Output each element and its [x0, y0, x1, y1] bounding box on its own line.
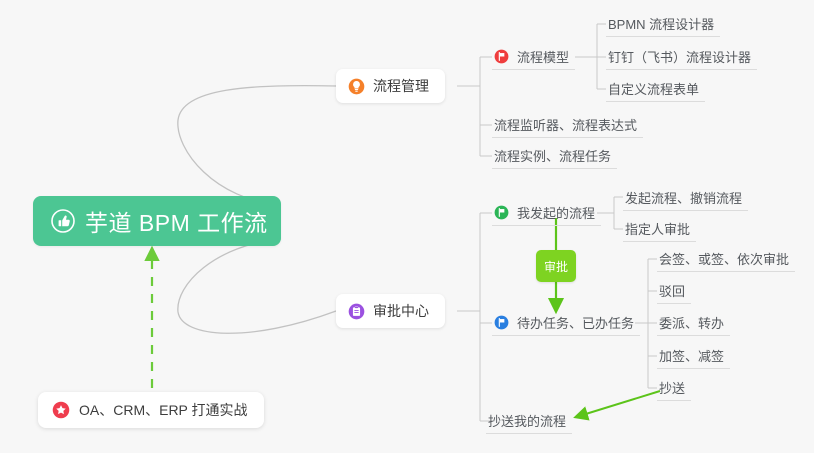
- flag-icon: [494, 315, 509, 330]
- connector-root-to-process-management: [178, 86, 336, 205]
- node-bpmn-designer[interactable]: BPMN 流程设计器: [606, 11, 720, 37]
- flag-icon: [494, 49, 509, 64]
- node-label: 流程模型: [517, 47, 569, 66]
- lightbulb-icon: [348, 78, 365, 95]
- flag-icon: [494, 205, 509, 220]
- node-label: 委派、转办: [659, 313, 724, 332]
- node-label: 发起流程、撤销流程: [625, 188, 742, 207]
- node-assignee-approval[interactable]: 指定人审批: [623, 216, 696, 242]
- node-label: 流程监听器、流程表达式: [494, 115, 637, 134]
- node-reject[interactable]: 驳回: [657, 278, 691, 304]
- topic-label: 审批中心: [373, 301, 429, 321]
- floating-card-integration[interactable]: OA、CRM、ERP 打通实战: [38, 392, 264, 428]
- star-icon: [52, 401, 70, 419]
- topic-card-approval-center[interactable]: 审批中心: [336, 294, 445, 328]
- root-label: 芋道 BPM 工作流: [85, 204, 268, 238]
- node-add-remove-sign[interactable]: 加签、减签: [657, 343, 730, 369]
- node-cc[interactable]: 抄送: [657, 375, 691, 401]
- arrow-cc-to-ccflow: [576, 391, 660, 417]
- node-dingtalk-feishu-designer[interactable]: 钉钉（飞书）流程设计器: [606, 44, 757, 70]
- connector-root-to-approval-center: [178, 239, 336, 333]
- root-node[interactable]: 芋道 BPM 工作流: [33, 196, 281, 246]
- node-label: 加签、减签: [659, 346, 724, 365]
- approval-badge-label: 审批: [544, 258, 568, 275]
- floating-card-label: OA、CRM、ERP 打通实战: [79, 400, 248, 420]
- approval-badge[interactable]: 审批: [536, 250, 576, 282]
- node-label: 流程实例、流程任务: [494, 146, 611, 165]
- node-countersign-modes[interactable]: 会签、或签、依次审批: [657, 246, 795, 272]
- node-label: 会签、或签、依次审批: [659, 249, 789, 268]
- node-delegate-transfer[interactable]: 委派、转办: [657, 310, 730, 336]
- node-custom-process-form[interactable]: 自定义流程表单: [606, 76, 705, 102]
- topic-card-process-management[interactable]: 流程管理: [336, 69, 445, 103]
- node-process-model[interactable]: 流程模型: [492, 44, 575, 70]
- topic-label: 流程管理: [373, 76, 429, 96]
- node-label: 我发起的流程: [517, 203, 595, 222]
- node-label: 钉钉（飞书）流程设计器: [608, 47, 751, 66]
- node-cc-to-me[interactable]: 抄送我的流程: [486, 408, 572, 434]
- node-label: 自定义流程表单: [608, 79, 699, 98]
- node-label: 待办任务、已办任务: [517, 313, 634, 332]
- node-label: 指定人审批: [625, 219, 690, 238]
- node-label: BPMN 流程设计器: [608, 14, 714, 33]
- clipboard-icon: [348, 303, 365, 320]
- mindmap-canvas: 芋道 BPM 工作流 流程管理 流程模型 BPMN 流程设计器 钉钉（飞书）流程…: [0, 0, 814, 453]
- node-label: 抄送: [659, 378, 685, 397]
- node-my-started-processes[interactable]: 我发起的流程: [492, 200, 601, 226]
- node-label: 驳回: [659, 281, 685, 300]
- node-label: 抄送我的流程: [488, 411, 566, 430]
- thumbs-up-icon: [51, 209, 75, 233]
- node-todo-done-tasks[interactable]: 待办任务、已办任务: [492, 310, 640, 336]
- node-instance-task[interactable]: 流程实例、流程任务: [492, 143, 617, 169]
- node-start-cancel-process[interactable]: 发起流程、撤销流程: [623, 185, 748, 211]
- node-listener-expression[interactable]: 流程监听器、流程表达式: [492, 112, 643, 138]
